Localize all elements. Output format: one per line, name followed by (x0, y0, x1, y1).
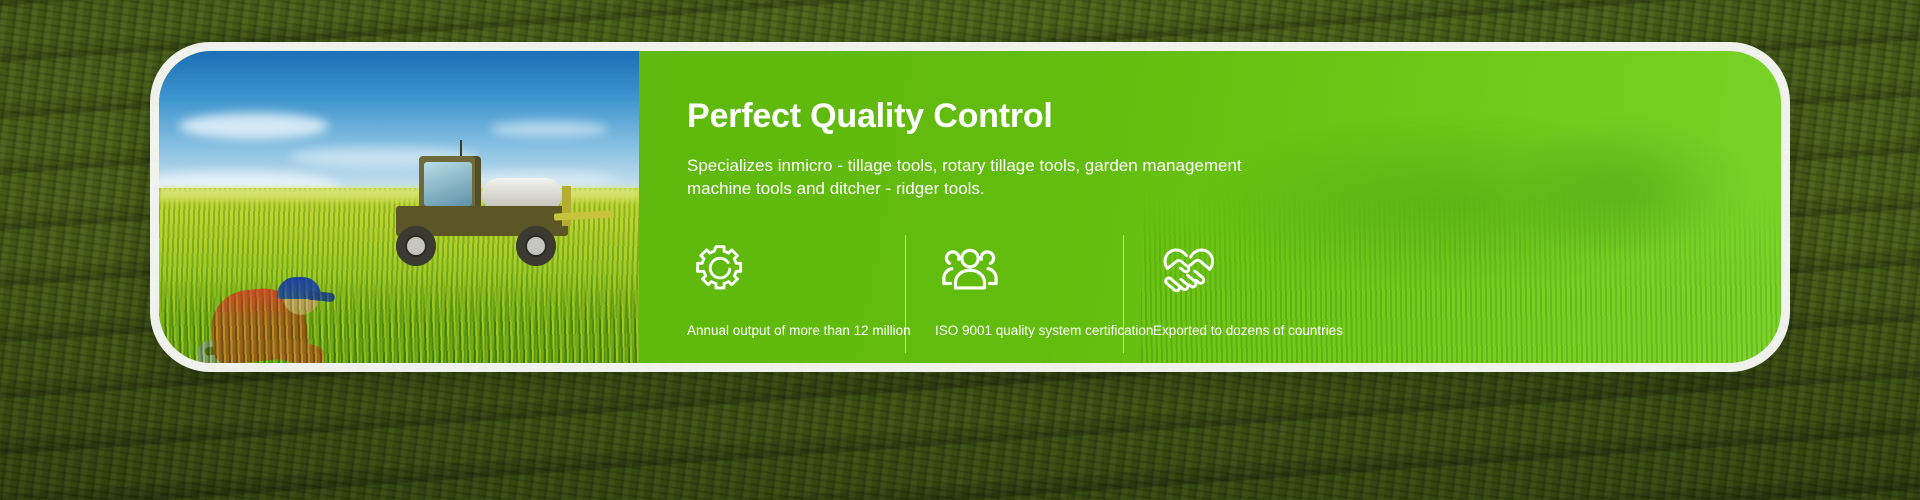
wheel (516, 226, 556, 266)
feature-card: Perfect Quality Control Specializes inmi… (159, 51, 1781, 363)
people-group-icon (941, 241, 999, 297)
cloud (489, 121, 609, 137)
content-panel: Perfect Quality Control Specializes inmi… (639, 51, 1781, 363)
feature-item-iso-certification: ISO 9001 quality system certification (905, 241, 1123, 338)
feature-label: ISO 9001 quality system certification (935, 323, 1153, 338)
feature-list: Annual output of more than 12 million (687, 241, 1781, 338)
feature-item-annual-output: Annual output of more than 12 million (687, 241, 905, 338)
feature-label: Annual output of more than 12 million (687, 323, 911, 338)
foreground-grass (159, 271, 639, 363)
cloud (179, 113, 329, 139)
handshake-heart-icon (1159, 241, 1221, 297)
crop-sprayer-machine (374, 156, 604, 266)
card-photo (159, 51, 639, 363)
page-subtitle: Specializes inmicro - tillage tools, rot… (687, 155, 1287, 201)
page-title: Perfect Quality Control (687, 99, 1781, 133)
wheel (396, 226, 436, 266)
feature-card-frame: Perfect Quality Control Specializes inmi… (150, 42, 1790, 372)
cab-window (424, 162, 472, 206)
feature-item-exported-countries: Exported to dozens of countries (1123, 241, 1341, 338)
gear-icon (693, 241, 747, 297)
feature-label: Exported to dozens of countries (1153, 323, 1343, 338)
promo-banner: Perfect Quality Control Specializes inmi… (0, 0, 1920, 500)
